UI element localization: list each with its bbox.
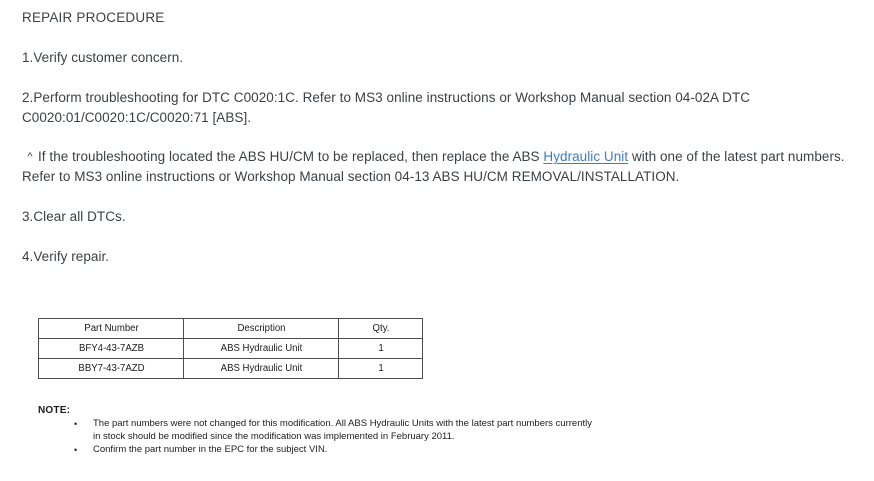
procedure-substep-note: ^If the troubleshooting located the ABS … <box>22 128 858 187</box>
column-header-description: Description <box>187 319 336 339</box>
caret-icon: ^ <box>22 147 38 167</box>
list-item: • Confirm the part number in the EPC for… <box>38 444 598 457</box>
note-label: NOTE: <box>38 404 598 417</box>
service-bulletin-document: REPAIR PROCEDURE 1.Verify customer conce… <box>0 0 874 481</box>
cell-description: ABS Hydraulic Unit <box>187 359 336 379</box>
procedure-step-1: 1.Verify customer concern. <box>22 28 858 68</box>
table-row: BFY4-43-7AZB ABS Hydraulic Unit 1 <box>39 339 423 359</box>
substep-text-before-link: If the troubleshooting located the ABS H… <box>38 149 543 164</box>
procedure-step-2-line-2: C0020:01/C0020:1C/C0020:71 [ABS]. <box>22 110 251 125</box>
column-header-qty: Qty. <box>340 319 421 339</box>
procedure-step-3: 3.Clear all DTCs. <box>22 187 858 227</box>
table-header-row: Part Number Description Qty. <box>39 319 423 339</box>
table-row: BBY7-43-7AZD ABS Hydraulic Unit 1 <box>39 359 423 379</box>
page-title: REPAIR PROCEDURE <box>22 0 858 28</box>
parts-table: Part Number Description Qty. BFY4-43-7AZ… <box>38 318 423 379</box>
cell-qty: 1 <box>340 339 421 359</box>
procedure-step-2-line-1: 2.Perform troubleshooting for DTC C0020:… <box>22 90 750 105</box>
cell-description: ABS Hydraulic Unit <box>187 339 336 359</box>
list-item: • The part numbers were not changed for … <box>38 418 598 443</box>
cell-part-number: BFY4-43-7AZB <box>41 339 180 359</box>
procedure-step-4: 4.Verify repair. <box>22 227 858 267</box>
cell-qty: 1 <box>340 359 421 379</box>
cell-part-number: BBY7-43-7AZD <box>41 359 180 379</box>
note-list: • The part numbers were not changed for … <box>38 418 598 457</box>
note-block: NOTE: • The part numbers were not change… <box>38 404 598 457</box>
bullet-icon: • <box>74 444 77 457</box>
repair-procedure-section: REPAIR PROCEDURE 1.Verify customer conce… <box>22 0 858 267</box>
note-item-text: Confirm the part number in the EPC for t… <box>93 444 598 457</box>
procedure-step-2: 2.Perform troubleshooting for DTC C0020:… <box>22 68 858 128</box>
column-header-part-number: Part Number <box>41 319 180 339</box>
bullet-icon: • <box>74 418 77 431</box>
note-item-text: The part numbers were not changed for th… <box>93 418 598 443</box>
hydraulic-unit-link[interactable]: Hydraulic Unit <box>543 149 628 164</box>
